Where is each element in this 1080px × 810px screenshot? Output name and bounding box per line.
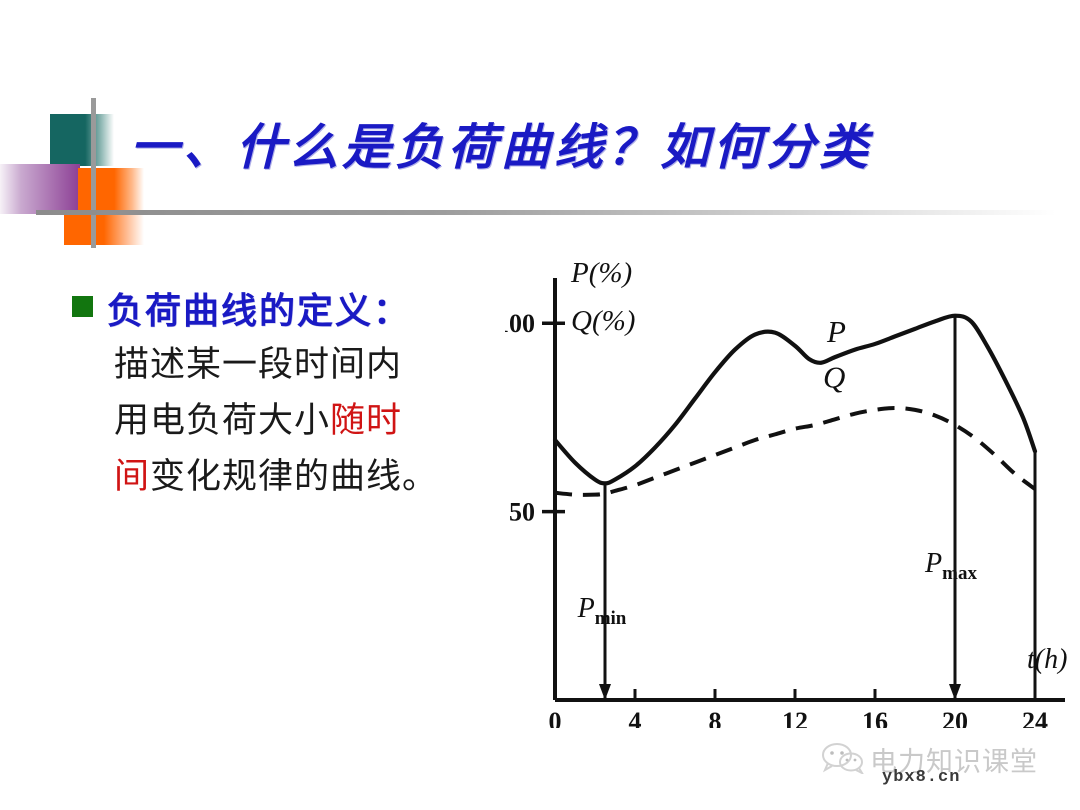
y-axis-label-p: P(%) — [570, 257, 632, 289]
x-axis-ticks: 04812162024 — [549, 689, 1049, 728]
pmin-arrow-icon — [599, 684, 611, 700]
title-divider-rule — [36, 210, 1056, 215]
watermark-url: ybx8.cn — [882, 768, 960, 787]
definition-line-2-highlight: 随时 — [330, 401, 402, 440]
definition-line-3-black: 变化规律的曲线。 — [150, 457, 438, 496]
x-tick-label: 4 — [629, 707, 642, 728]
definition-line-3-highlight: 间 — [114, 457, 150, 496]
definition-block: 负荷曲线的定义： 描述某一段时间内 用电负荷大小随时 间变化规律的曲线。 — [72, 282, 522, 502]
definition-line-1: 描述某一段时间内 — [114, 340, 522, 390]
watermark: 电力知识课堂 ybx8.cn — [812, 740, 1062, 798]
x-tick-label: 20 — [942, 707, 968, 728]
load-curve-svg: 50100 04812162024 P(%) Q(%) t(h) P Q Pmi… — [505, 248, 1080, 728]
annotation-pmin-base: P — [577, 593, 595, 624]
curve-label-q: Q — [823, 359, 845, 394]
deco-purple-square — [0, 164, 80, 214]
load-curve-chart: 50100 04812162024 P(%) Q(%) t(h) P Q Pmi… — [505, 248, 1080, 728]
definition-line-2-black: 用电负荷大小 — [114, 401, 330, 440]
deco-orange-square-small — [64, 210, 144, 245]
series-curve-q — [555, 408, 1035, 495]
y-axis-label-q: Q(%) — [571, 305, 635, 337]
annotation-pmax: Pmax — [924, 548, 977, 584]
curve-label-p: P — [826, 314, 846, 349]
annotation-pmin: Pmin — [577, 593, 627, 629]
chart-annotation-markers — [599, 316, 1035, 700]
definition-line-1-text: 描述某一段时间内 — [114, 345, 402, 384]
series-curve-p — [555, 316, 1035, 484]
x-tick-label: 16 — [862, 707, 888, 728]
definition-line-2: 用电负荷大小随时 — [114, 396, 522, 446]
x-tick-label: 12 — [782, 707, 808, 728]
x-tick-label: 24 — [1022, 707, 1048, 728]
annotation-pmax-subscript: max — [942, 563, 977, 584]
wechat-icon — [820, 742, 866, 774]
deco-teal-square — [50, 114, 114, 166]
chart-axes — [555, 278, 1065, 700]
annotation-pmax-base: P — [924, 548, 942, 579]
y-tick-label: 50 — [509, 498, 535, 527]
x-tick-label: 8 — [709, 707, 722, 728]
deco-vertical-line — [91, 98, 96, 248]
page-title: 一、什么是负荷曲线？如何分类 — [130, 108, 872, 179]
definition-line-3: 间变化规律的曲线。 — [114, 452, 522, 502]
annotation-pmin-subscript: min — [595, 608, 627, 629]
x-axis-label: t(h) — [1027, 644, 1067, 675]
pmax-arrow-icon — [949, 684, 961, 700]
y-tick-label: 100 — [505, 309, 535, 338]
definition-heading: 负荷曲线的定义： — [107, 282, 411, 334]
definition-heading-row: 负荷曲线的定义： — [72, 282, 522, 334]
x-tick-label: 0 — [549, 707, 562, 728]
green-square-bullet-icon — [72, 296, 93, 317]
